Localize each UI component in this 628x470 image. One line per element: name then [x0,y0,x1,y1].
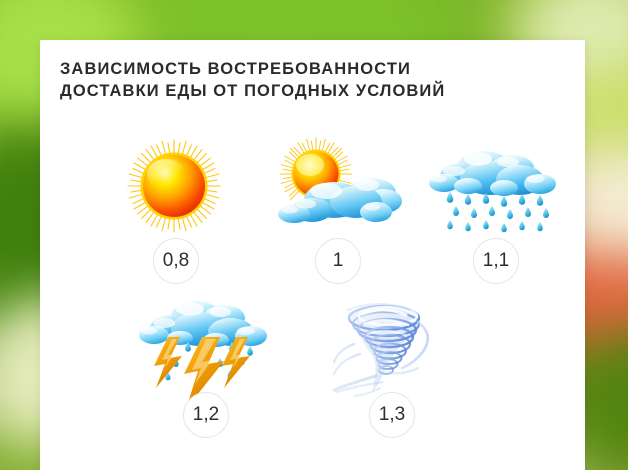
value-badge-rain: 1,1 [473,238,519,284]
value-badge-tornado: 1,3 [369,392,415,438]
sun-behind-cloud-icon [264,138,414,238]
weather-item-thunderstorm: 1,2 [132,292,282,440]
weather-item-tornado: 1,3 [318,292,468,440]
weather-item-sunny: 0,8 [102,138,252,286]
page-title-line-2: ДОСТАВКИ ЕДЫ ОТ ПОГОДНЫХ УСЛОВИЙ [60,80,560,102]
value-badge-thunderstorm: 1,2 [183,392,229,438]
weather-item-partly-cloudy: 1 [264,138,414,286]
tornado-icon [318,292,468,392]
weather-item-rain: 1,1 [422,138,572,286]
weather-row-1: 0,8 [40,138,585,286]
rain-cloud-icon [422,138,572,238]
infographic-card: ЗАВИСИМОСТЬ ВОСТРЕБОВАННОСТИ ДОСТАВКИ ЕД… [40,40,585,470]
page-title: ЗАВИСИМОСТЬ ВОСТРЕБОВАННОСТИ ДОСТАВКИ ЕД… [60,58,560,102]
weather-row-2: 1,2 [40,292,585,440]
page-title-line-1: ЗАВИСИМОСТЬ ВОСТРЕБОВАННОСТИ [60,58,560,80]
thunderstorm-icon [132,292,282,392]
sun-icon [102,138,252,238]
value-badge-sunny: 0,8 [153,238,199,284]
value-badge-partly-cloudy: 1 [315,238,361,284]
